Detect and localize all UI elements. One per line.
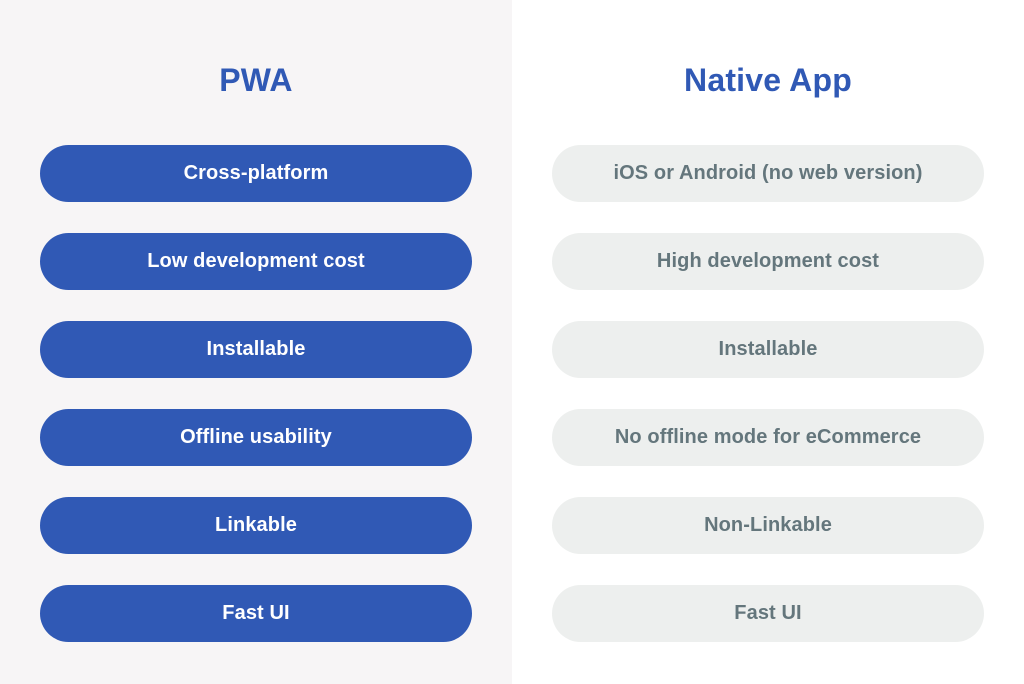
pwa-feature-label: Offline usability: [180, 426, 332, 449]
native-app-feature-label: Non-Linkable: [704, 514, 832, 537]
pwa-feature-list: Cross-platform Low development cost Inst…: [40, 145, 472, 642]
pwa-feature-label: Installable: [207, 338, 306, 361]
native-app-feature-label: High development cost: [657, 250, 879, 273]
comparison-diagram: PWA Cross-platform Low development cost …: [0, 0, 1024, 684]
pwa-feature-label: Cross-platform: [184, 162, 329, 185]
native-app-feature-item: iOS or Android (no web version): [552, 145, 984, 202]
native-app-feature-item: Installable: [552, 321, 984, 378]
native-app-feature-label: No offline mode for eCommerce: [615, 426, 921, 449]
native-app-feature-list: iOS or Android (no web version) High dev…: [552, 145, 984, 642]
pwa-feature-label: Low development cost: [147, 250, 365, 273]
pwa-feature-item: Low development cost: [40, 233, 472, 290]
pwa-column-title: PWA: [0, 58, 512, 102]
native-app-feature-item: Non-Linkable: [552, 497, 984, 554]
pwa-feature-label: Linkable: [215, 514, 297, 537]
pwa-column: PWA Cross-platform Low development cost …: [0, 0, 512, 684]
native-app-feature-item: No offline mode for eCommerce: [552, 409, 984, 466]
pwa-feature-item: Cross-platform: [40, 145, 472, 202]
native-app-feature-label: Installable: [719, 338, 818, 361]
pwa-feature-item: Installable: [40, 321, 472, 378]
native-app-column-title: Native App: [512, 58, 1024, 102]
native-app-feature-label: iOS or Android (no web version): [613, 162, 922, 185]
pwa-feature-label: Fast UI: [222, 602, 289, 625]
native-app-feature-item: High development cost: [552, 233, 984, 290]
native-app-column: Native App iOS or Android (no web versio…: [512, 0, 1024, 684]
pwa-feature-item: Linkable: [40, 497, 472, 554]
native-app-feature-item: Fast UI: [552, 585, 984, 642]
pwa-feature-item: Fast UI: [40, 585, 472, 642]
native-app-feature-label: Fast UI: [734, 602, 801, 625]
pwa-feature-item: Offline usability: [40, 409, 472, 466]
